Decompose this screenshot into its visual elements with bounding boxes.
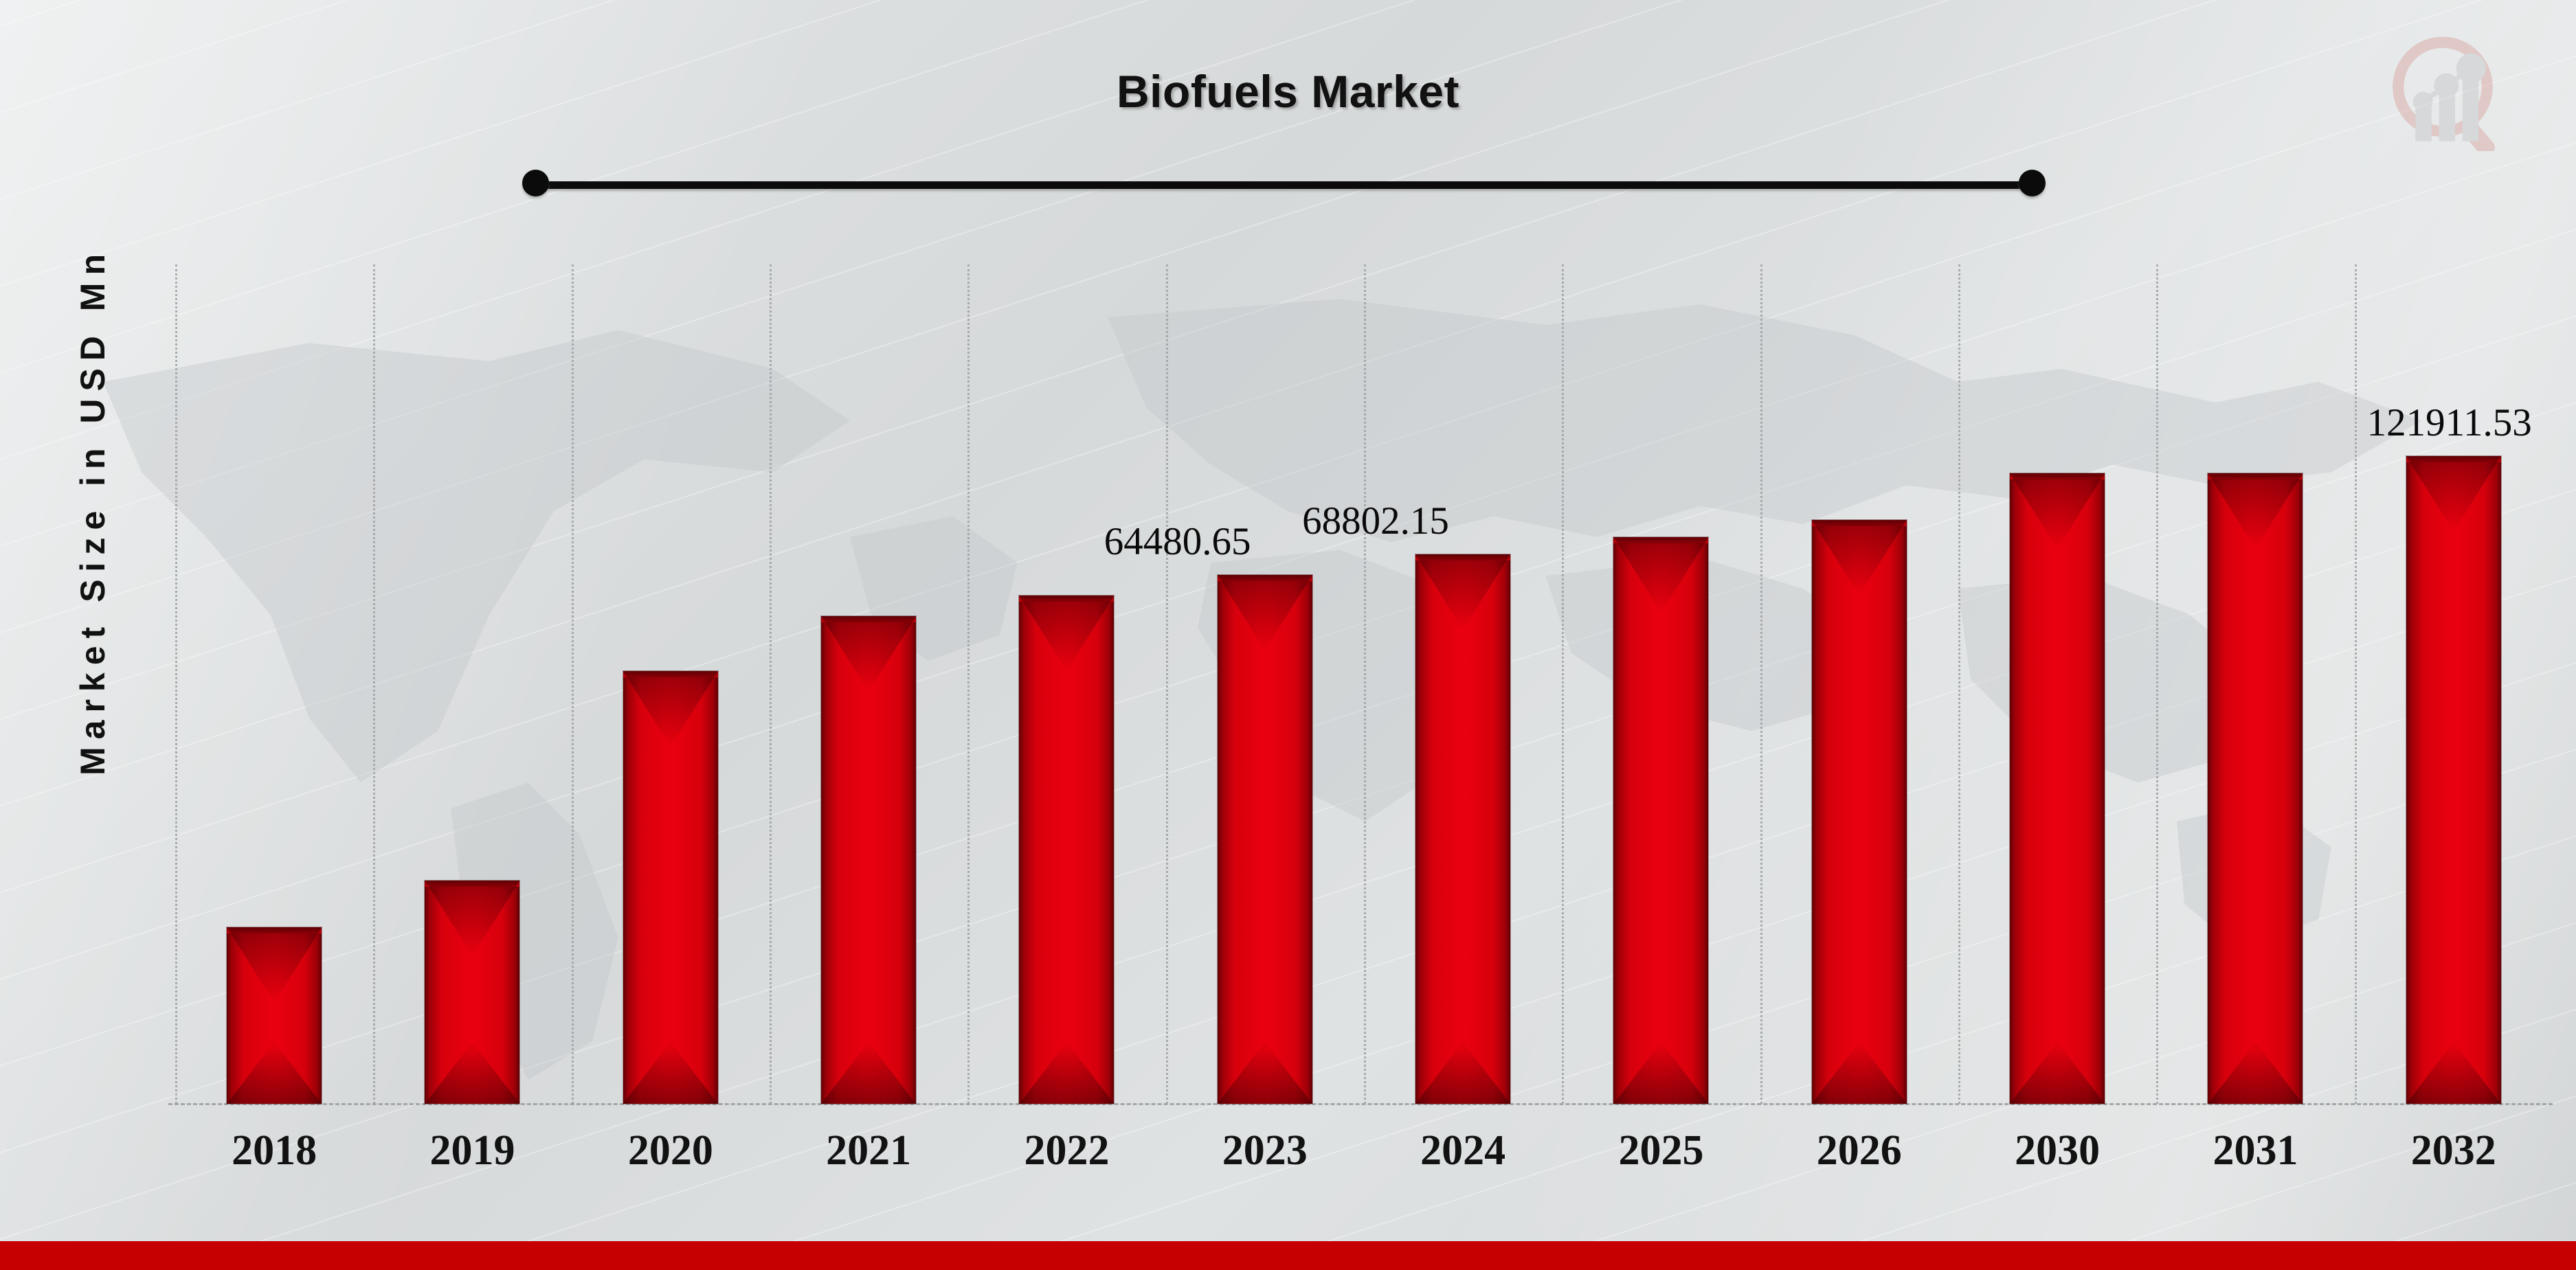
x-tick-2030: 2030 — [1958, 1126, 2156, 1188]
bar-slot — [1958, 264, 2156, 1104]
x-tick-2019: 2019 — [373, 1126, 571, 1188]
bar-bevel-top — [1613, 537, 1708, 613]
bar-bevel-bottom — [1613, 1042, 1708, 1104]
bar-bevel-top — [623, 671, 718, 747]
bar-slot: 64480.65 — [1166, 264, 1364, 1104]
bar-2025[interactable] — [1613, 537, 1708, 1104]
bar-bevel-top — [1415, 554, 1510, 630]
bar-2022[interactable] — [1019, 596, 1114, 1104]
bar-bevel-top — [1218, 575, 1312, 650]
bar-bevel-top — [821, 616, 916, 692]
bar-2031[interactable] — [2208, 473, 2303, 1104]
bar-slot — [175, 264, 373, 1104]
divider-dot-right-icon — [2019, 170, 2046, 196]
data-label-2023: 64480.65 — [1104, 519, 1251, 564]
x-tick-2025: 2025 — [1562, 1126, 1760, 1188]
bar-slot — [2156, 264, 2354, 1104]
footer-accent-strip — [0, 1241, 2576, 1270]
bar-bevel-bottom — [1812, 1042, 1907, 1104]
bar-slot: 68802.15 — [1364, 264, 1562, 1104]
data-label-2032: 121911.53 — [2367, 400, 2532, 445]
x-tick-2018: 2018 — [175, 1126, 373, 1188]
bar-2023[interactable]: 64480.65 — [1218, 575, 1312, 1104]
plot-area: 64480.6568802.15121911.53 — [175, 264, 2553, 1104]
x-tick-2021: 2021 — [770, 1126, 967, 1188]
bar-2020[interactable] — [623, 671, 718, 1104]
bar-bevel-top — [1019, 596, 1114, 671]
bar-2024[interactable]: 68802.15 — [1415, 554, 1510, 1104]
bar-slot — [1760, 264, 1958, 1104]
title-divider — [522, 172, 1347, 199]
bar-2032[interactable]: 121911.53 — [2406, 456, 2501, 1104]
bar-bevel-top — [425, 881, 519, 956]
bar-2018[interactable] — [227, 927, 322, 1104]
bar-slot — [373, 264, 571, 1104]
bar-slot: 121911.53 — [2355, 264, 2553, 1104]
bar-bevel-bottom — [425, 1042, 519, 1104]
bar-2026[interactable] — [1812, 520, 1907, 1104]
bar-bevel-bottom — [1019, 1042, 1114, 1104]
x-tick-2032: 2032 — [2355, 1126, 2553, 1188]
bar-series: 64480.6568802.15121911.53 — [175, 264, 2553, 1104]
x-tick-2020: 2020 — [572, 1126, 770, 1188]
page-title: Biofuels Market — [0, 65, 2576, 117]
bar-bevel-bottom — [2208, 1042, 2303, 1104]
y-axis-title: Market Size in USD Mn — [73, 99, 113, 923]
bar-bevel-top — [2406, 456, 2501, 532]
bar-bevel-bottom — [2010, 1042, 2105, 1104]
x-tick-2026: 2026 — [1760, 1126, 1958, 1188]
bar-bevel-top — [1812, 520, 1907, 596]
bar-slot — [967, 264, 1165, 1104]
chart-poster: Biofuels Market Market Size in USD Mn 64… — [0, 0, 2576, 1270]
bar-bevel-bottom — [821, 1042, 916, 1104]
x-tick-2031: 2031 — [2156, 1126, 2354, 1188]
bar-bevel-top — [2010, 473, 2105, 549]
bar-slot — [770, 264, 967, 1104]
bar-bevel-bottom — [1218, 1042, 1312, 1104]
divider-line — [535, 181, 2032, 189]
bar-bevel-bottom — [227, 1042, 322, 1104]
bar-2030[interactable] — [2010, 473, 2105, 1104]
x-tick-2023: 2023 — [1166, 1126, 1364, 1188]
bar-2021[interactable] — [821, 616, 916, 1104]
bar-2019[interactable] — [425, 881, 519, 1104]
bar-bevel-bottom — [623, 1042, 718, 1104]
divider-dot-left-icon — [522, 170, 549, 196]
x-tick-2022: 2022 — [967, 1126, 1165, 1188]
bar-bevel-top — [2208, 473, 2303, 549]
bar-bevel-bottom — [2406, 1042, 2501, 1104]
bar-slot — [1562, 264, 1760, 1104]
bar-slot — [572, 264, 770, 1104]
bar-bevel-top — [227, 927, 322, 1003]
bar-bevel-bottom — [1415, 1042, 1510, 1104]
x-tick-2024: 2024 — [1364, 1126, 1562, 1188]
data-label-2024: 68802.15 — [1302, 499, 1449, 543]
x-axis-ticks: 2018201920202021202220232024202520262030… — [175, 1126, 2553, 1188]
